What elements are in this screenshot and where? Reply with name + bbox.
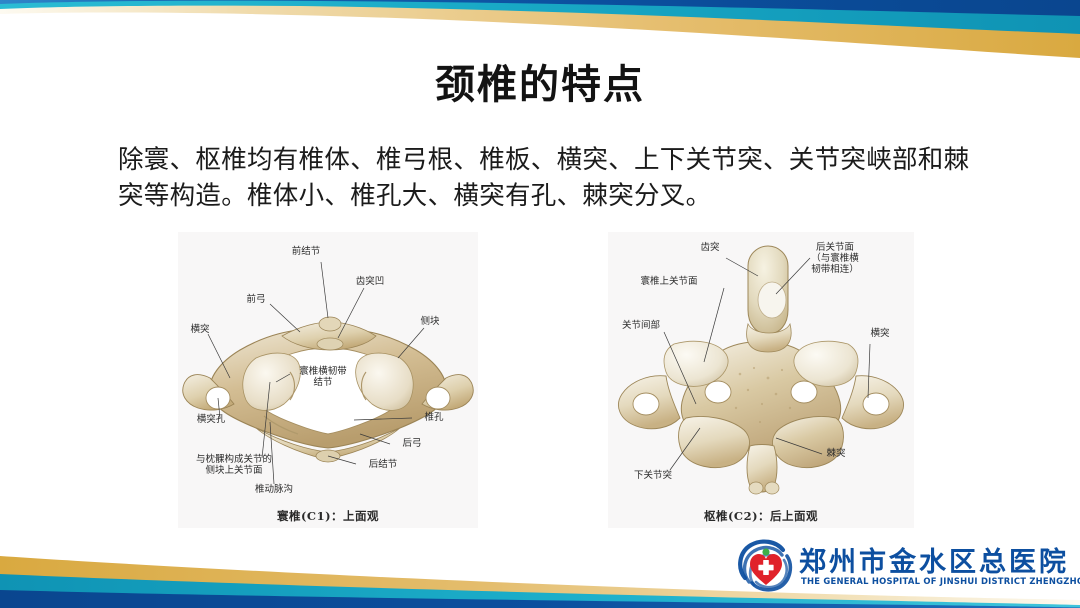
label-transverse-process: 横突 bbox=[180, 324, 220, 335]
label-transverse-foramen: 横突孔 bbox=[184, 414, 238, 425]
label-transverse-process-c2: 横突 bbox=[860, 328, 900, 339]
hospital-name-en: THE GENERAL HOSPITAL OF JINSHUI DISTRICT… bbox=[801, 576, 1080, 586]
label-vertebral-foramen: 椎孔 bbox=[414, 412, 454, 423]
hospital-emblem-icon bbox=[737, 538, 795, 594]
figure-caption-axis: 枢椎(C2)：后上面观 bbox=[608, 508, 914, 524]
label-inferior-articular-process: 下关节突 bbox=[622, 470, 684, 481]
hospital-name-cn: 郑州市金水区总医院 bbox=[799, 540, 1069, 579]
label-lateral-mass: 侧块 bbox=[410, 316, 450, 327]
figure-axis-c2: 齿突 后关节面 （与寰椎横 韧带相连） 寰椎上关节面 关节间部 横突 棘突 下关… bbox=[608, 232, 914, 528]
label-posterior-facet: 后关节面 （与寰椎横 韧带相连） bbox=[800, 242, 870, 276]
label-dens: 齿突 bbox=[690, 242, 730, 253]
label-posterior-tubercle: 后结节 bbox=[356, 459, 410, 470]
page-title: 颈椎的特点 bbox=[0, 62, 1080, 108]
figure-caption-atlas: 寰椎(C1)：上面观 bbox=[178, 508, 478, 524]
label-atlas-superior-facet: 寰椎上关节面 bbox=[626, 276, 712, 287]
label-anterior-arch: 前弓 bbox=[236, 294, 276, 305]
label-vertebral-artery-groove: 椎动脉沟 bbox=[240, 484, 308, 495]
presentation-slide: { "slide": { "title": "颈椎的特点", "body": "… bbox=[0, 0, 1080, 608]
hospital-logo: 郑州市金水区总医院 THE GENERAL HOSPITAL OF JINSHU… bbox=[737, 538, 1075, 596]
label-posterior-arch: 后弓 bbox=[392, 438, 432, 449]
figure-atlas-c1: 前结节 齿突凹 前弓 侧块 横突 寰椎横韧带 结节 横突孔 椎孔 后弓 后结节 … bbox=[178, 232, 478, 528]
label-occipital-condyle-facet: 与枕髁构成关节的 侧块上关节面 bbox=[184, 454, 284, 476]
label-pars-interarticularis: 关节间部 bbox=[612, 320, 670, 331]
label-spinous-process: 棘突 bbox=[816, 448, 856, 459]
label-dens-facet: 齿突凹 bbox=[342, 276, 398, 287]
body-paragraph: 除寰、枢椎均有椎体、椎弓根、椎板、横突、上下关节突、关节突峡部和棘突等构造。椎体… bbox=[118, 142, 990, 214]
label-anterior-tubercle: 前结节 bbox=[278, 246, 334, 257]
label-transverse-ligament-tubercle: 寰椎横韧带 结节 bbox=[290, 366, 356, 388]
